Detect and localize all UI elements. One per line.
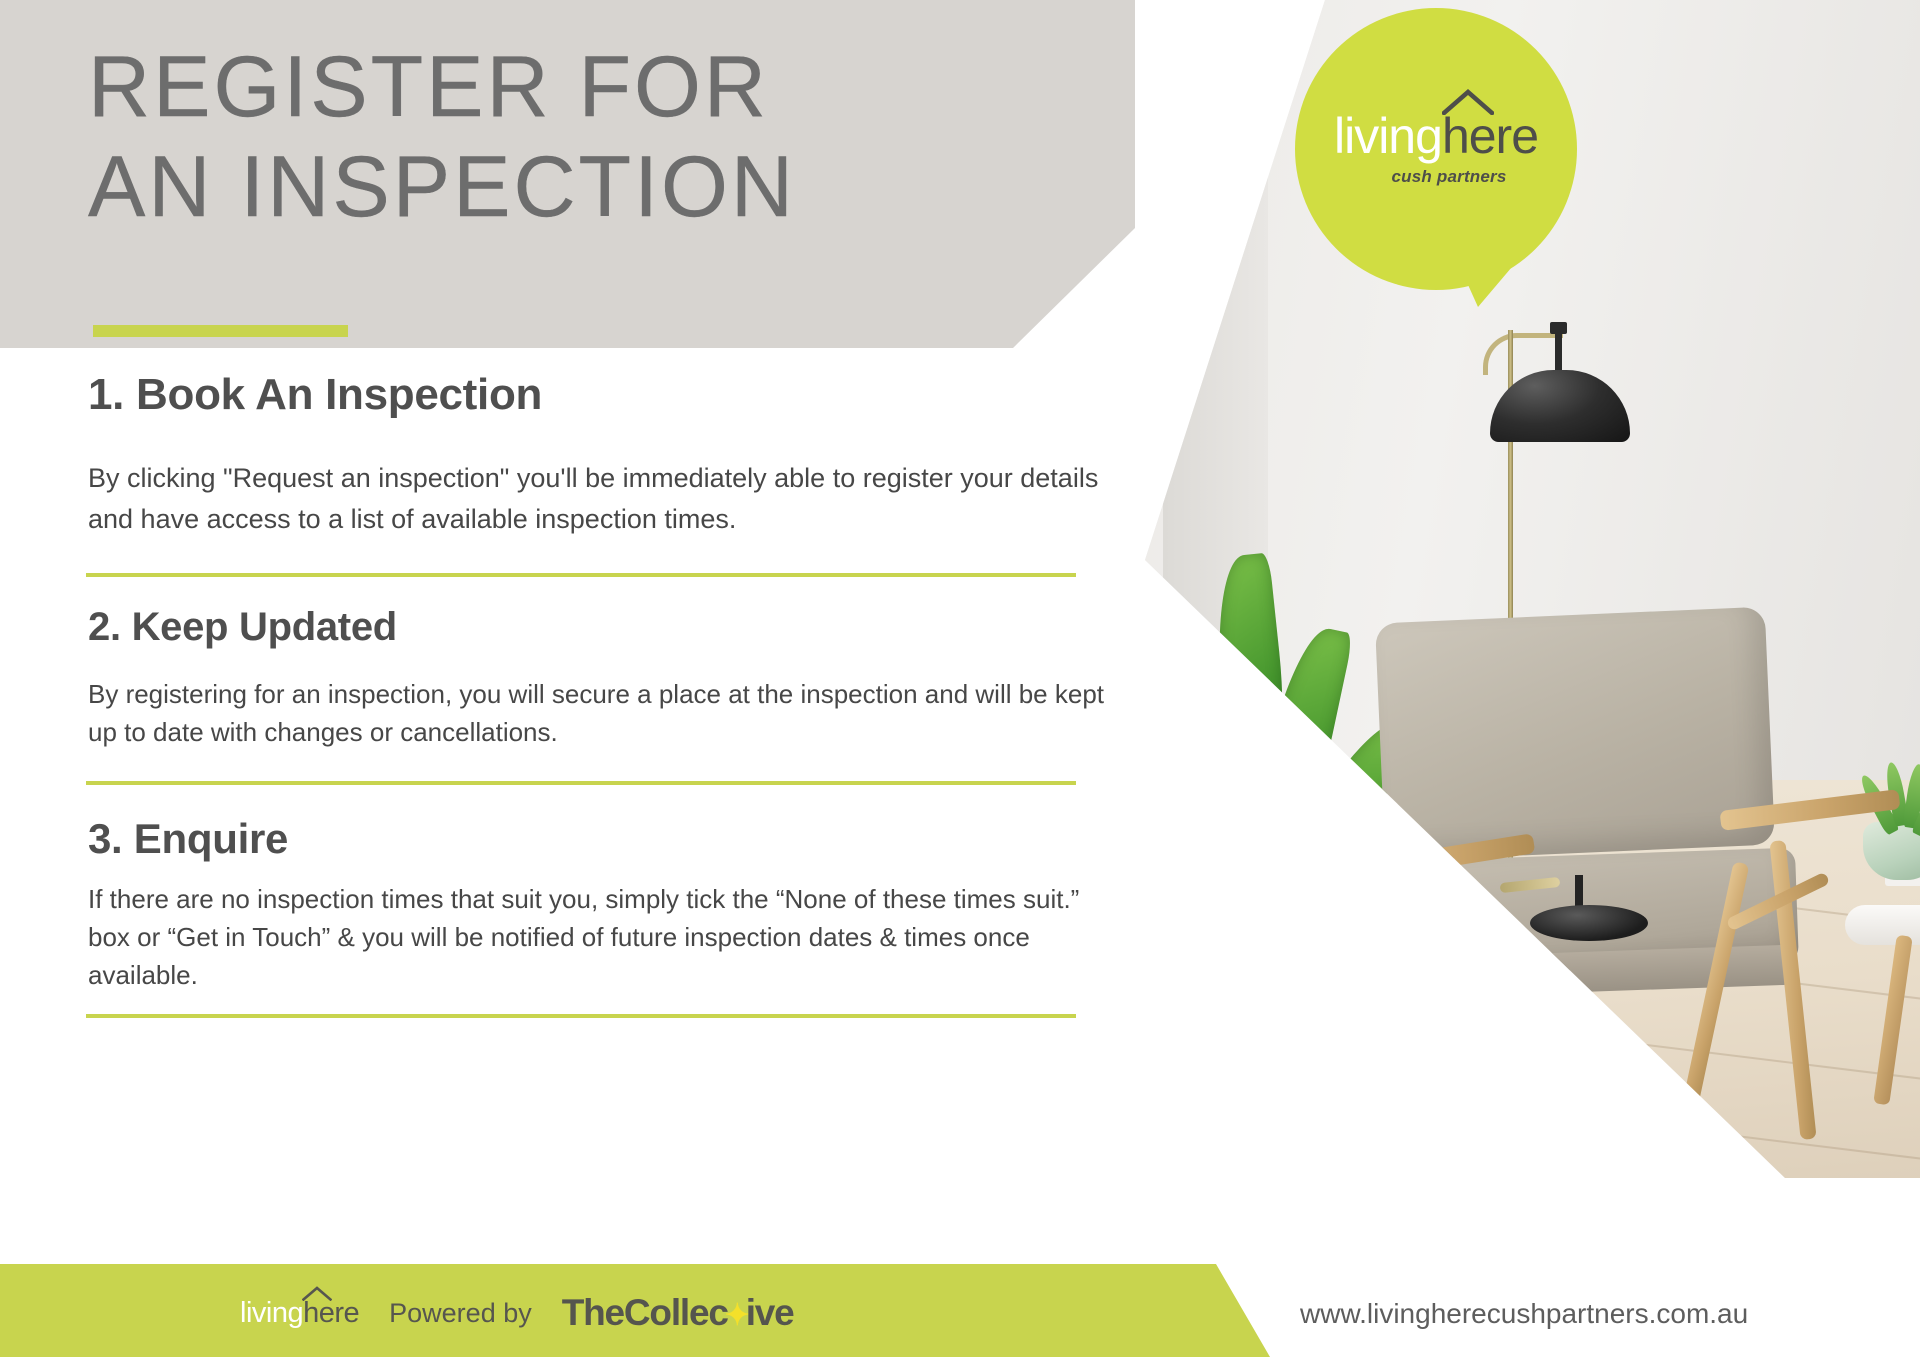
footer-brand-logo[interactable]: livinghere bbox=[240, 1299, 359, 1328]
title-accent-bar bbox=[93, 325, 348, 337]
armchair-leg bbox=[1416, 856, 1491, 1163]
step-3-heading: 3. Enquire bbox=[88, 815, 1145, 863]
logo-word-here: here bbox=[1442, 108, 1538, 164]
logo-tagline: cush partners bbox=[1391, 167, 1506, 187]
photo-wall-edge bbox=[1163, 0, 1268, 790]
step-1-body: By clicking "Request an inspection" you'… bbox=[88, 458, 1118, 539]
footer-logo-word-here: here bbox=[303, 1297, 359, 1329]
brand-logo[interactable]: livinghere cush partners bbox=[1295, 8, 1577, 290]
step-3-section: 3. Enquire If there are no inspection ti… bbox=[0, 785, 1145, 1018]
logo-word-living: living bbox=[1334, 108, 1442, 164]
step-3-body: If there are no inspection times that su… bbox=[88, 881, 1118, 994]
house-roof-icon bbox=[302, 1286, 332, 1301]
powered-by-label: Powered by bbox=[389, 1298, 532, 1329]
step-2-heading: 2. Keep Updated bbox=[88, 605, 1145, 650]
step-1-section: 1. Book An Inspection By clicking "Reque… bbox=[0, 348, 1145, 577]
section-divider bbox=[86, 1014, 1076, 1018]
leaf bbox=[1163, 832, 1274, 1058]
page-title: REGISTER FOR AN INSPECTION bbox=[88, 38, 1088, 238]
step-2-body: By registering for an inspection, you wi… bbox=[88, 676, 1128, 751]
the-collective-logo[interactable]: TheCollec✦ive bbox=[562, 1292, 794, 1334]
house-roof-icon bbox=[1442, 89, 1494, 115]
leaf bbox=[1145, 629, 1272, 872]
header-band: REGISTER FOR AN INSPECTION bbox=[0, 0, 1135, 348]
step-1-heading: 1. Book An Inspection bbox=[88, 370, 1145, 420]
leaf bbox=[1207, 552, 1295, 807]
steps-content: 1. Book An Inspection By clicking "Reque… bbox=[0, 348, 1145, 1018]
lamp-base bbox=[1530, 905, 1648, 941]
step-2-section: 2. Keep Updated By registering for an in… bbox=[0, 577, 1145, 785]
collective-text-part2: ive bbox=[746, 1292, 794, 1334]
footer-branding: livinghere Powered by TheCollec✦ive bbox=[240, 1290, 794, 1336]
armchair-back-cushion bbox=[1375, 607, 1775, 862]
leaf bbox=[1257, 828, 1388, 1048]
leaf bbox=[1145, 781, 1266, 985]
armchair-leg bbox=[1317, 861, 1380, 1160]
foliage-plant bbox=[1150, 545, 1410, 1065]
logo-wordmark: livinghere bbox=[1334, 111, 1538, 161]
website-url[interactable]: www.livingherecushpartners.com.au bbox=[1300, 1298, 1748, 1330]
lamp-arm bbox=[1483, 333, 1563, 375]
armchair-brace bbox=[1355, 878, 1467, 946]
leaf bbox=[1241, 774, 1306, 1026]
footer-logo-word-living: living bbox=[240, 1297, 303, 1329]
collective-text-part1: TheCollec bbox=[562, 1292, 728, 1334]
